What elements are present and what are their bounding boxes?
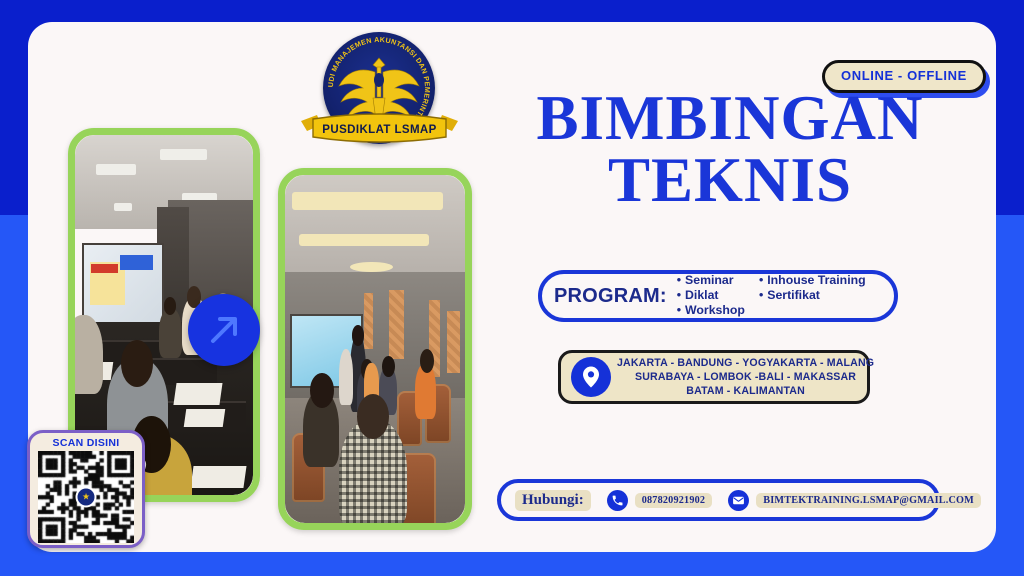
phone-icon (607, 490, 628, 511)
program-box: PROGRAM: •Seminar •Diklat •Workshop •Inh… (538, 270, 898, 322)
contact-phone-number: 087820921902 (635, 493, 713, 508)
bullet-icon: • (677, 288, 681, 302)
location-line: JAKARTA - BANDUNG - YOGYAKARTA - MALANG (617, 356, 874, 370)
contact-phone-group[interactable]: 087820921902 (607, 490, 713, 511)
wall-panel (364, 293, 373, 349)
logo-ribbon-text: PUSDIKLAT LSMAP (322, 124, 436, 136)
locations-lines: JAKARTA - BANDUNG - YOGYAKARTA - MALANG … (611, 356, 880, 398)
ceiling-light (160, 149, 206, 160)
logo-ribbon: PUSDIKLAT LSMAP (297, 111, 462, 151)
arrow-up-right-icon (204, 310, 244, 350)
program-item: •Sertifikat (759, 288, 866, 303)
program-column-2: •Inhouse Training •Sertifikat (759, 273, 866, 318)
contact-email-address: BIMTEKTRAINING.LSMAP@GMAIL.COM (756, 493, 981, 508)
contact-email-group[interactable]: BIMTEKTRAINING.LSMAP@GMAIL.COM (728, 490, 981, 511)
program-item-label: Seminar (685, 273, 734, 287)
photo-training-right (278, 168, 472, 530)
program-item: •Diklat (677, 288, 745, 303)
attendee-head (310, 373, 333, 408)
program-item: •Seminar (677, 273, 745, 288)
paper (173, 383, 222, 405)
bullet-icon: • (677, 303, 681, 317)
page-title: BIMBINGAN TEKNIS (520, 88, 940, 211)
program-column-1: •Seminar •Diklat •Workshop (677, 273, 745, 318)
cove-light (299, 234, 429, 246)
program-item-label: Workshop (685, 303, 745, 317)
title-line-1: BIMBINGAN (536, 83, 923, 153)
contact-bar: Hubungi: 087820921902 BIMTEKTRAINING.LSM… (497, 479, 940, 521)
qr-center-logo-icon: ★ (76, 487, 97, 508)
title-line-2: TEKNIS (520, 150, 940, 212)
program-item-label: Inhouse Training (767, 273, 865, 287)
map-pin-badge (571, 357, 611, 397)
map-pin-icon (579, 365, 603, 389)
ceiling-light (114, 203, 132, 210)
qr-scan-card[interactable]: SCAN DISINI ★ (27, 430, 145, 548)
slide-title (91, 264, 118, 273)
bullet-icon: • (759, 273, 763, 287)
bullet-icon: • (677, 273, 681, 287)
lsmap-logo: LEMBAGA STUDI MANAJEMEN AKUNTANSI DAN PE… (297, 32, 462, 157)
locations-box: JAKARTA - BANDUNG - YOGYAKARTA - MALANG … (558, 350, 870, 404)
arrow-up-right-badge[interactable] (188, 294, 260, 366)
envelope-icon (728, 490, 749, 511)
phone-glyph (611, 494, 624, 507)
paper (191, 466, 247, 488)
attendee (159, 308, 182, 358)
online-offline-label: ONLINE - OFFLINE (841, 68, 967, 83)
ceiling-light (96, 164, 135, 175)
paper (184, 409, 226, 427)
presenter-head (352, 325, 365, 346)
location-line: BATAM - KALIMANTAN (617, 384, 874, 398)
qr-code-image[interactable]: ★ (38, 451, 134, 543)
program-item-label: Sertifikat (767, 288, 820, 302)
contact-label: Hubungi: (515, 490, 591, 511)
attendee-head (382, 356, 395, 377)
bullet-icon: • (759, 288, 763, 302)
qr-title: SCAN DISINI (53, 437, 120, 449)
program-columns: •Seminar •Diklat •Workshop •Inhouse Trai… (677, 273, 866, 318)
wall-panel (447, 311, 460, 374)
program-item: •Inhouse Training (759, 273, 866, 288)
program-item: •Workshop (677, 303, 745, 318)
program-item-label: Diklat (685, 288, 719, 302)
slide-header (120, 255, 153, 271)
assistant (339, 349, 353, 405)
program-label: PROGRAM: (554, 285, 667, 308)
wall-panel (389, 290, 403, 360)
photo-right-scene (285, 175, 465, 523)
cove-light (292, 192, 443, 209)
location-line: SURABAYA - LOMBOK -BALI - MAKASSAR (617, 370, 874, 384)
envelope-glyph (732, 494, 745, 507)
poster-canvas: LEMBAGA STUDI MANAJEMEN AKUNTANSI DAN PE… (0, 0, 1024, 576)
